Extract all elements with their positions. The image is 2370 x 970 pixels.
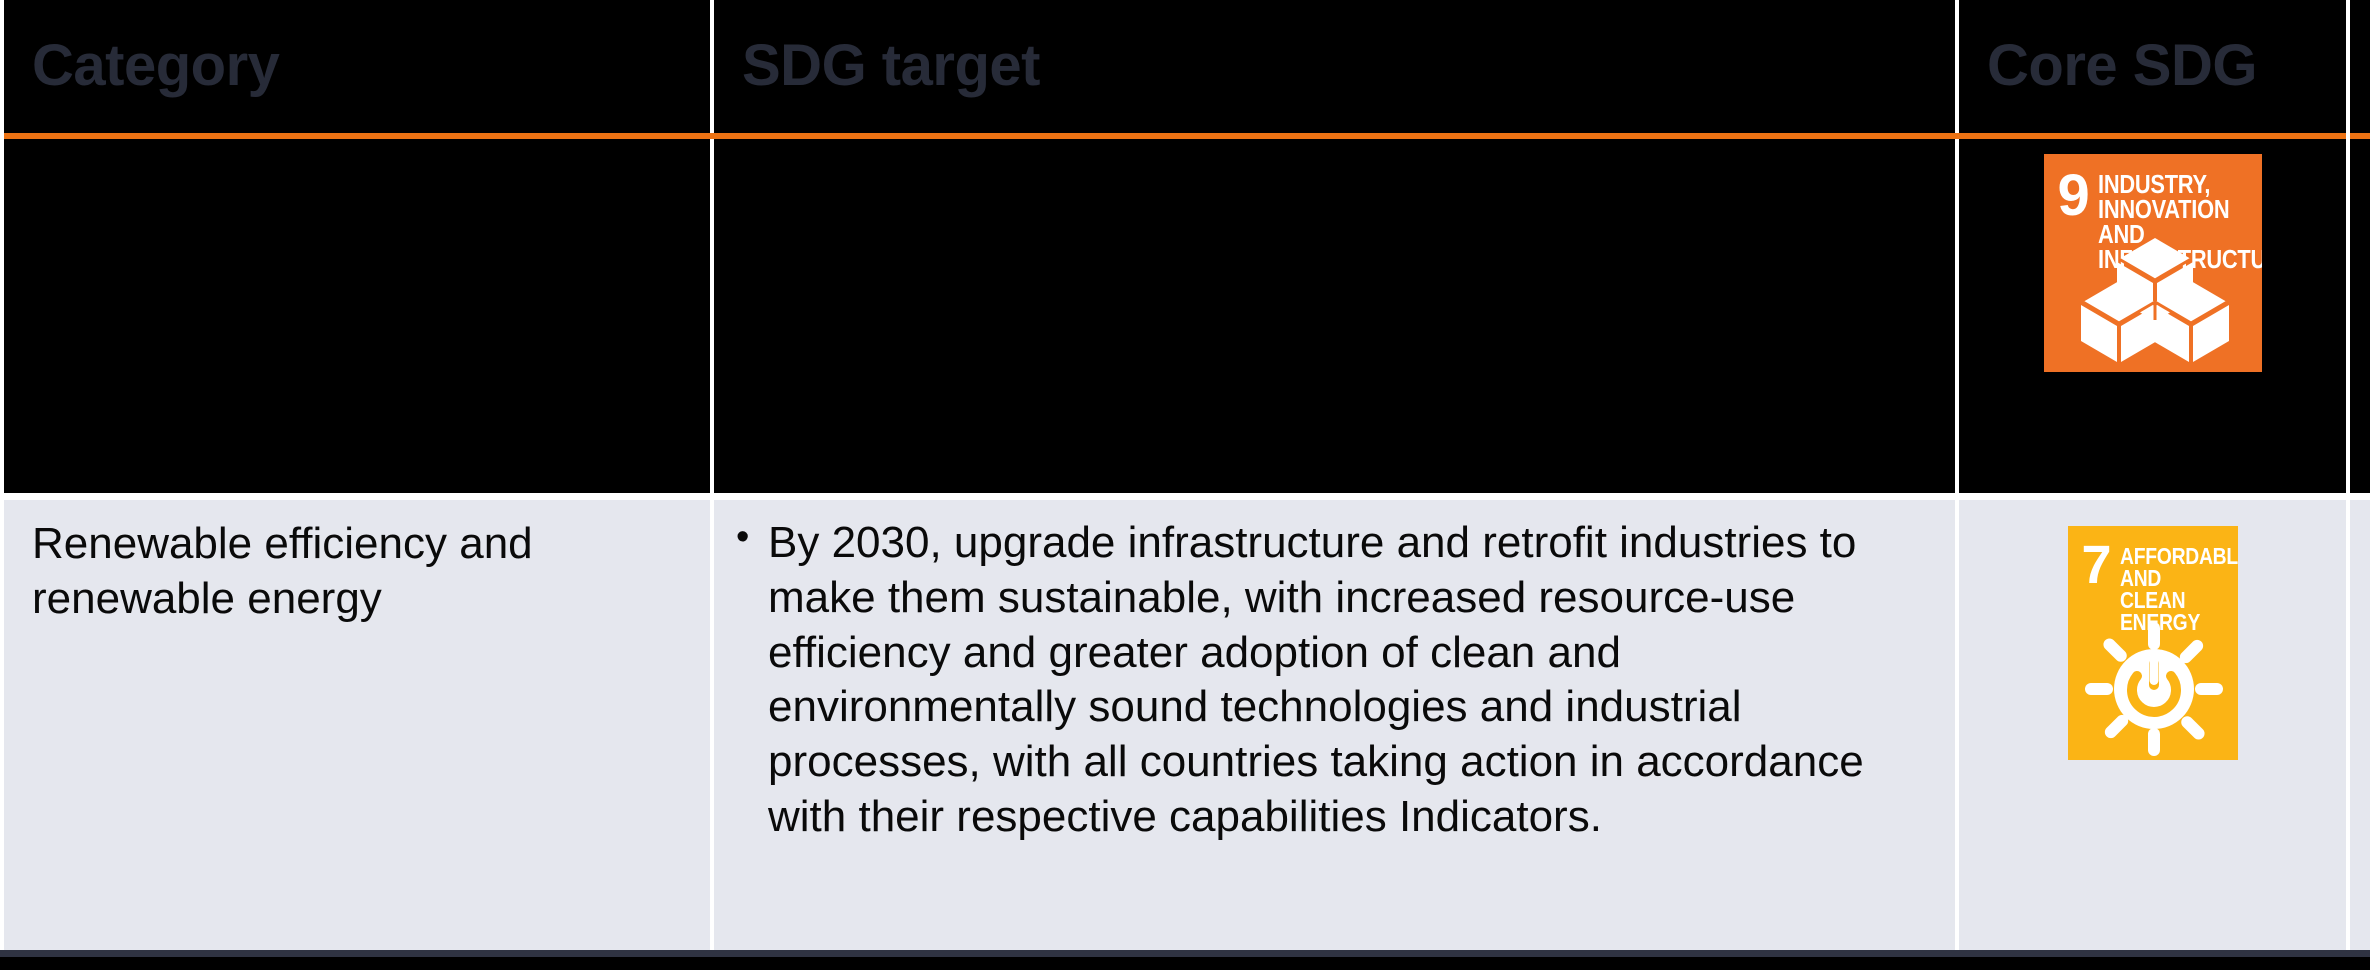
- sdg-badge-7-title: AFFORDABLE AND CLEAN ENERGY: [2120, 545, 2238, 633]
- table-bottom-rule: [0, 950, 2370, 957]
- cell-core-sdg: 9 INDUSTRY, INNOVATION AND INFRASTRUCTUR…: [1959, 139, 2346, 493]
- header-column-divider-2: [1955, 0, 1959, 133]
- sun-power-icon: [2085, 622, 2223, 756]
- column-header-category-label: Category: [32, 36, 279, 97]
- sdg-badge-9-number: 9: [2058, 170, 2090, 221]
- sdg-target-bullet-list: • By 2030, upgrade infrastructure and re…: [734, 516, 1931, 845]
- column-header-sdg-target-label: SDG target: [742, 36, 1040, 97]
- column-header-core-sdg-label: Core SDG: [1987, 36, 2257, 97]
- row1-column-divider-1: [710, 139, 714, 493]
- list-item: • By 2030, upgrade infrastructure and re…: [734, 516, 1931, 845]
- table-header-row: Category SDG target Core SDG: [0, 0, 2370, 133]
- list-item-text: By 2030, upgrade infrastructure and retr…: [768, 518, 1864, 841]
- table-right-edge: [2346, 0, 2350, 953]
- cell-core-sdg: 7 AFFORDABLE AND CLEAN ENERGY: [1959, 500, 2346, 950]
- table-left-edge: [0, 0, 4, 953]
- table-row: 9 INDUSTRY, INNOVATION AND INFRASTRUCTUR…: [0, 139, 2370, 493]
- cell-category: Renewable efficiency and renewable energ…: [4, 500, 710, 950]
- column-header-core-sdg: Core SDG: [1959, 0, 2346, 133]
- bullet-point-icon: •: [736, 514, 749, 561]
- sdg-badge-7: 7 AFFORDABLE AND CLEAN ENERGY: [2068, 526, 2238, 760]
- page-bottom-margin: [0, 957, 2370, 970]
- table-row: Renewable efficiency and renewable energ…: [0, 500, 2370, 950]
- row1-column-divider-2: [1955, 139, 1959, 493]
- row2-column-divider-1: [710, 500, 714, 950]
- cell-category: [4, 139, 710, 493]
- cell-category-text: Renewable efficiency and renewable energ…: [32, 516, 686, 627]
- row2-column-divider-2: [1955, 500, 1959, 950]
- sdg-badge-7-number: 7: [2082, 542, 2112, 590]
- row-separator: [0, 493, 2370, 500]
- cell-sdg-target: • By 2030, upgrade infrastructure and re…: [714, 500, 1955, 950]
- sdg-table: Category SDG target Core SDG 9 INDUSTRY,…: [0, 0, 2370, 970]
- header-column-divider-1: [710, 0, 714, 133]
- sdg-badge-9: 9 INDUSTRY, INNOVATION AND INFRASTRUCTUR…: [2044, 154, 2262, 372]
- cell-sdg-target: [714, 139, 1955, 493]
- column-header-sdg-target: SDG target: [714, 0, 1955, 133]
- column-header-category: Category: [4, 0, 710, 133]
- isometric-cubes-icon: [2080, 236, 2230, 364]
- sdg-badge-7-head: 7 AFFORDABLE AND CLEAN ENERGY: [2082, 542, 2228, 633]
